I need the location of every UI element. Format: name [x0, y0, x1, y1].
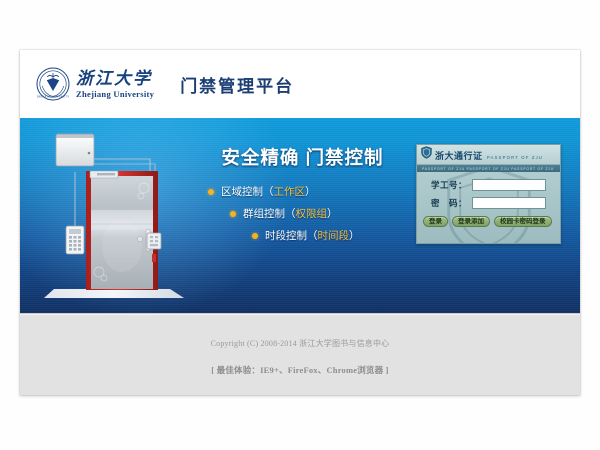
feature-label: 区域控制（	[221, 184, 274, 199]
site-footer: Copyright (C) 2008-2014 浙江大学图书与信息中心 [ 最佳…	[20, 313, 580, 395]
password-field[interactable]	[472, 197, 546, 209]
university-name-en: Zhejiang University	[76, 90, 154, 99]
browser-support-note: [ 最佳体验：IE9+、FireFox、Chrome浏览器 ]	[20, 364, 580, 376]
login-title-cn: 浙大通行证	[435, 151, 483, 161]
access-control-door-illustration	[42, 126, 192, 306]
campus-card-login-button[interactable]: 校园卡密码登录	[494, 216, 552, 227]
field-row-password: 密 码：	[425, 197, 552, 209]
feature-accent: 时间段	[318, 228, 350, 243]
feature-accent: 工作区	[274, 184, 306, 199]
login-title-en: PASSPORT OF ZJU	[487, 155, 543, 160]
university-wordmark: 浙江大学 Zhejiang University	[76, 70, 154, 99]
login-button[interactable]: 登录	[423, 216, 448, 227]
feature-label-end: ）	[349, 228, 360, 243]
feature-label-end: ）	[327, 206, 338, 221]
login-form: 学工号： 密 码：	[417, 172, 560, 209]
feature-label: 时段控制（	[265, 228, 318, 243]
page-card: ZHEJIANG UNIVERSITY 浙江大学 Zhejiang Univer…	[20, 50, 580, 395]
hero-banner: 安全精确 门禁控制 区域控制（工作区） 群组控制（权限组） 时段控制（时间段）	[20, 118, 580, 313]
site-header: ZHEJIANG UNIVERSITY 浙江大学 Zhejiang Univer…	[20, 50, 580, 118]
login-ribbon: PASSPORT OF ZJU PASSPORT OF ZJU PASSPORT…	[417, 165, 560, 172]
zhejiang-university-seal-icon: ZHEJIANG UNIVERSITY	[36, 67, 70, 101]
feature-label: 群组控制（	[243, 206, 296, 221]
shield-icon	[421, 146, 432, 164]
banner-headline: 安全精确 门禁控制	[190, 144, 415, 170]
copyright-text: Copyright (C) 2008-2014 浙江大学图书与信息中心	[20, 338, 580, 349]
field-row-student-staff-id: 学工号：	[425, 179, 552, 191]
student-staff-id-field[interactable]	[472, 179, 546, 191]
list-item: 时段控制（时间段）	[252, 228, 415, 243]
svg-text:ZHEJIANG UNIVERSITY: ZHEJIANG UNIVERSITY	[37, 95, 70, 98]
university-logo[interactable]: ZHEJIANG UNIVERSITY 浙江大学 Zhejiang Univer…	[36, 67, 154, 101]
login-add-button[interactable]: 登录添加	[452, 216, 490, 227]
password-label: 密 码：	[425, 197, 467, 209]
bullet-dot-icon	[230, 211, 236, 217]
bullet-dot-icon	[252, 233, 258, 239]
feature-accent: 权限组	[296, 206, 328, 221]
bullet-dot-icon	[208, 189, 214, 195]
login-actions: 登录 登录添加 校园卡密码登录	[417, 215, 560, 227]
feature-list: 区域控制（工作区） 群组控制（权限组） 时段控制（时间段）	[190, 184, 415, 243]
login-panel-title: 浙大通行证 PASSPORT OF ZJU	[435, 147, 543, 163]
banner-copy: 安全精确 门禁控制 区域控制（工作区） 群组控制（权限组） 时段控制（时间段）	[190, 144, 415, 250]
list-item: 区域控制（工作区）	[208, 184, 415, 199]
university-name-cn: 浙江大学	[76, 70, 154, 87]
login-ribbon-text: PASSPORT OF ZJU PASSPORT OF ZJU PASSPORT…	[417, 167, 560, 171]
list-item: 群组控制（权限组）	[230, 206, 415, 221]
page-title: 门禁管理平台	[180, 72, 294, 97]
login-panel-header: 浙大通行证 PASSPORT OF ZJU	[417, 145, 560, 165]
student-staff-id-label: 学工号：	[425, 179, 467, 191]
feature-label-end: ）	[305, 184, 316, 199]
login-panel: 浙大通行证 PASSPORT OF ZJU PASSPORT OF ZJU PA…	[416, 144, 561, 244]
